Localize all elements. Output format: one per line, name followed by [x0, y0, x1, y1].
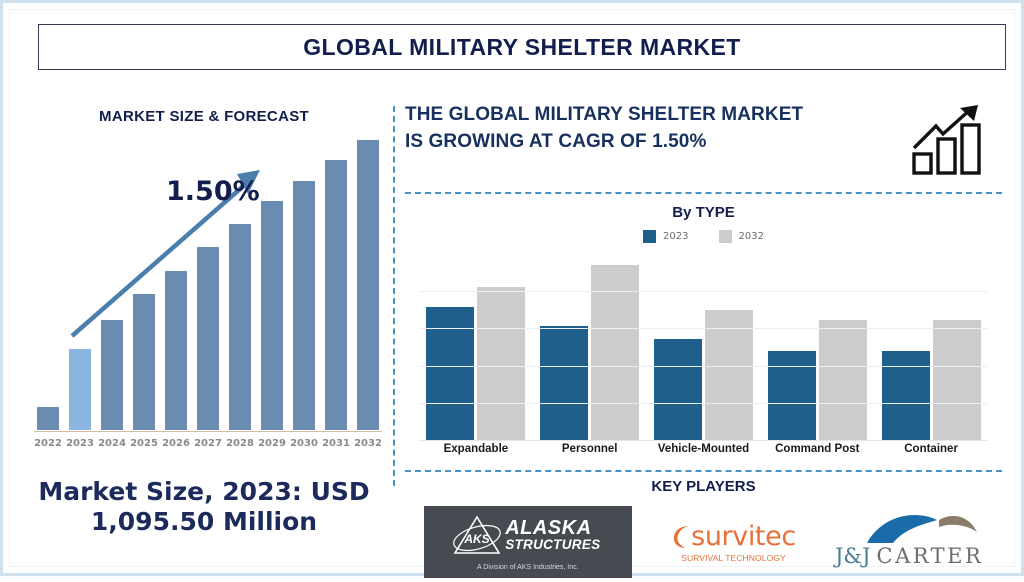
forecast-bar-column: [98, 140, 126, 430]
forecast-bar-column: [130, 140, 158, 430]
market-size-line-1: Market Size, 2023: USD: [18, 477, 390, 507]
legend-swatch: [643, 230, 656, 243]
forecast-year-label: 2032: [354, 438, 382, 449]
forecast-bar-column: [354, 140, 382, 430]
jj-carter-wordmark: J&J CARTER: [835, 544, 983, 574]
market-size-forecast-panel: MARKET SIZE & FORECAST 20222023202420252…: [18, 88, 390, 558]
by-type-category-label: Command Post: [760, 443, 874, 455]
vertical-divider: [393, 106, 395, 486]
bar-group: [533, 254, 647, 440]
gridline: [419, 403, 988, 404]
by-type-category-label: Expandable: [419, 443, 533, 455]
bar-chart-arrow-up-icon: [908, 104, 994, 176]
right-panel: THE GLOBAL MILITARY SHELTER MARKET IS GR…: [405, 88, 1002, 558]
by-type-category-label: Vehicle-Mounted: [647, 443, 761, 455]
alaska-line-1: ALASKA: [505, 519, 600, 539]
market-size-line-2: 1,095.50 Million: [18, 507, 390, 537]
legend-label: 2023: [663, 231, 688, 242]
by-type-bar: [705, 310, 753, 440]
alaska-tagline: A Division of AKS Industries, Inc.: [477, 564, 579, 571]
jj-carter-part-2: CARTER: [877, 544, 984, 568]
forecast-bar: [37, 407, 59, 430]
forecast-year-label: 2025: [130, 438, 158, 449]
by-type-bar: [882, 351, 930, 440]
jj-carter-arc-icon: [865, 510, 981, 546]
by-type-bars: [419, 254, 988, 440]
forecast-bar: [261, 201, 283, 430]
infographic-frame: GLOBAL MILITARY SHELTER MARKET MARKET SI…: [0, 0, 1024, 576]
by-type-bar: [477, 287, 525, 440]
infographic-inner: GLOBAL MILITARY SHELTER MARKET MARKET SI…: [9, 9, 1015, 567]
market-size-forecast-chart: 2022202320242025202620272028202920302031…: [34, 124, 382, 452]
forecast-bar: [69, 349, 91, 430]
forecast-year-label: 2029: [258, 438, 286, 449]
forecast-year-labels: 2022202320242025202620272028202920302031…: [34, 434, 382, 452]
logo-alaska-structures: AKS ALASKA STRUCTURES A Division of AKS …: [424, 506, 632, 578]
forecast-year-label: 2023: [66, 438, 94, 449]
forecast-bar-column: [322, 140, 350, 430]
forecast-bar: [325, 160, 347, 430]
by-type-bar: [654, 339, 702, 440]
aks-mark: AKS: [464, 532, 490, 546]
forecast-bar: [229, 224, 251, 430]
forecast-year-label: 2028: [226, 438, 254, 449]
survitec-swoosh-icon: [671, 523, 691, 551]
bar-group: [647, 254, 761, 440]
forecast-bar: [357, 140, 379, 430]
legend-item: 2023: [643, 230, 688, 243]
by-type-category-labels: ExpandablePersonnelVehicle-MountedComman…: [419, 443, 988, 455]
chart-legend: 20232032: [405, 230, 1002, 243]
by-type-axis: [419, 440, 988, 441]
forecast-year-label: 2027: [194, 438, 222, 449]
market-size-value: Market Size, 2023: USD 1,095.50 Million: [18, 477, 390, 536]
forecast-year-label: 2024: [98, 438, 126, 449]
cagr-annotation: 1.50%: [166, 176, 260, 207]
by-type-title: By TYPE: [405, 204, 1002, 221]
by-type-bar: [768, 351, 816, 440]
by-type-chart: [419, 254, 988, 440]
forecast-year-label: 2022: [34, 438, 62, 449]
key-players-logos: AKS ALASKA STRUCTURES A Division of AKS …: [405, 502, 1002, 582]
by-type-category-label: Container: [874, 443, 988, 455]
logo-jj-carter: J&J CARTER: [835, 510, 983, 574]
growth-line-2: IS GROWING AT CAGR OF 1.50%: [405, 129, 895, 156]
page-title: GLOBAL MILITARY SHELTER MARKET: [303, 34, 741, 61]
legend-label: 2032: [739, 231, 764, 242]
forecast-bar: [293, 181, 315, 430]
survitec-tagline: SURVIVAL TECHNOLOGY: [681, 553, 786, 563]
aks-triangle-icon: AKS: [451, 513, 503, 557]
logo-survitec: survitec SURVIVAL TECHNOLOGY: [669, 511, 797, 573]
growth-line-1: THE GLOBAL MILITARY SHELTER MARKET: [405, 102, 895, 129]
forecast-bar-column: [258, 140, 286, 430]
forecast-year-label: 2031: [322, 438, 350, 449]
legend-swatch: [719, 230, 732, 243]
forecast-bar-column: [66, 140, 94, 430]
legend-item: 2032: [719, 230, 764, 243]
alaska-wordmark: ALASKA STRUCTURES: [505, 519, 600, 552]
forecast-bar: [101, 320, 123, 430]
title-bar: GLOBAL MILITARY SHELTER MARKET: [38, 24, 1006, 70]
bar-group: [760, 254, 874, 440]
left-panel-heading: MARKET SIZE & FORECAST: [18, 108, 390, 125]
by-type-bar: [426, 307, 474, 440]
forecast-bar: [197, 247, 219, 430]
divider-top: [405, 192, 1002, 194]
growth-text: THE GLOBAL MILITARY SHELTER MARKET IS GR…: [405, 102, 895, 156]
growth-statement: THE GLOBAL MILITARY SHELTER MARKET IS GR…: [405, 102, 1002, 174]
forecast-axis: [34, 431, 382, 432]
forecast-bar-column: [290, 140, 318, 430]
forecast-year-label: 2030: [290, 438, 318, 449]
forecast-bar: [165, 271, 187, 431]
alaska-logo-row: AKS ALASKA STRUCTURES: [451, 513, 600, 557]
gridline: [419, 328, 988, 329]
jj-carter-part-1: J&J: [835, 544, 871, 568]
forecast-bar: [133, 294, 155, 430]
bar-group: [874, 254, 988, 440]
by-type-bar: [540, 326, 588, 440]
gridline: [419, 366, 988, 367]
forecast-year-label: 2026: [162, 438, 190, 449]
survitec-wordmark: survitec: [691, 521, 796, 552]
by-type-bar: [933, 320, 981, 440]
key-players-title: KEY PLAYERS: [405, 478, 1002, 495]
by-type-bar: [819, 320, 867, 440]
divider-bottom: [405, 470, 1002, 472]
forecast-bar-column: [34, 140, 62, 430]
gridline: [419, 291, 988, 292]
alaska-line-2: STRUCTURES: [505, 538, 600, 551]
by-type-category-label: Personnel: [533, 443, 647, 455]
bar-group: [419, 254, 533, 440]
